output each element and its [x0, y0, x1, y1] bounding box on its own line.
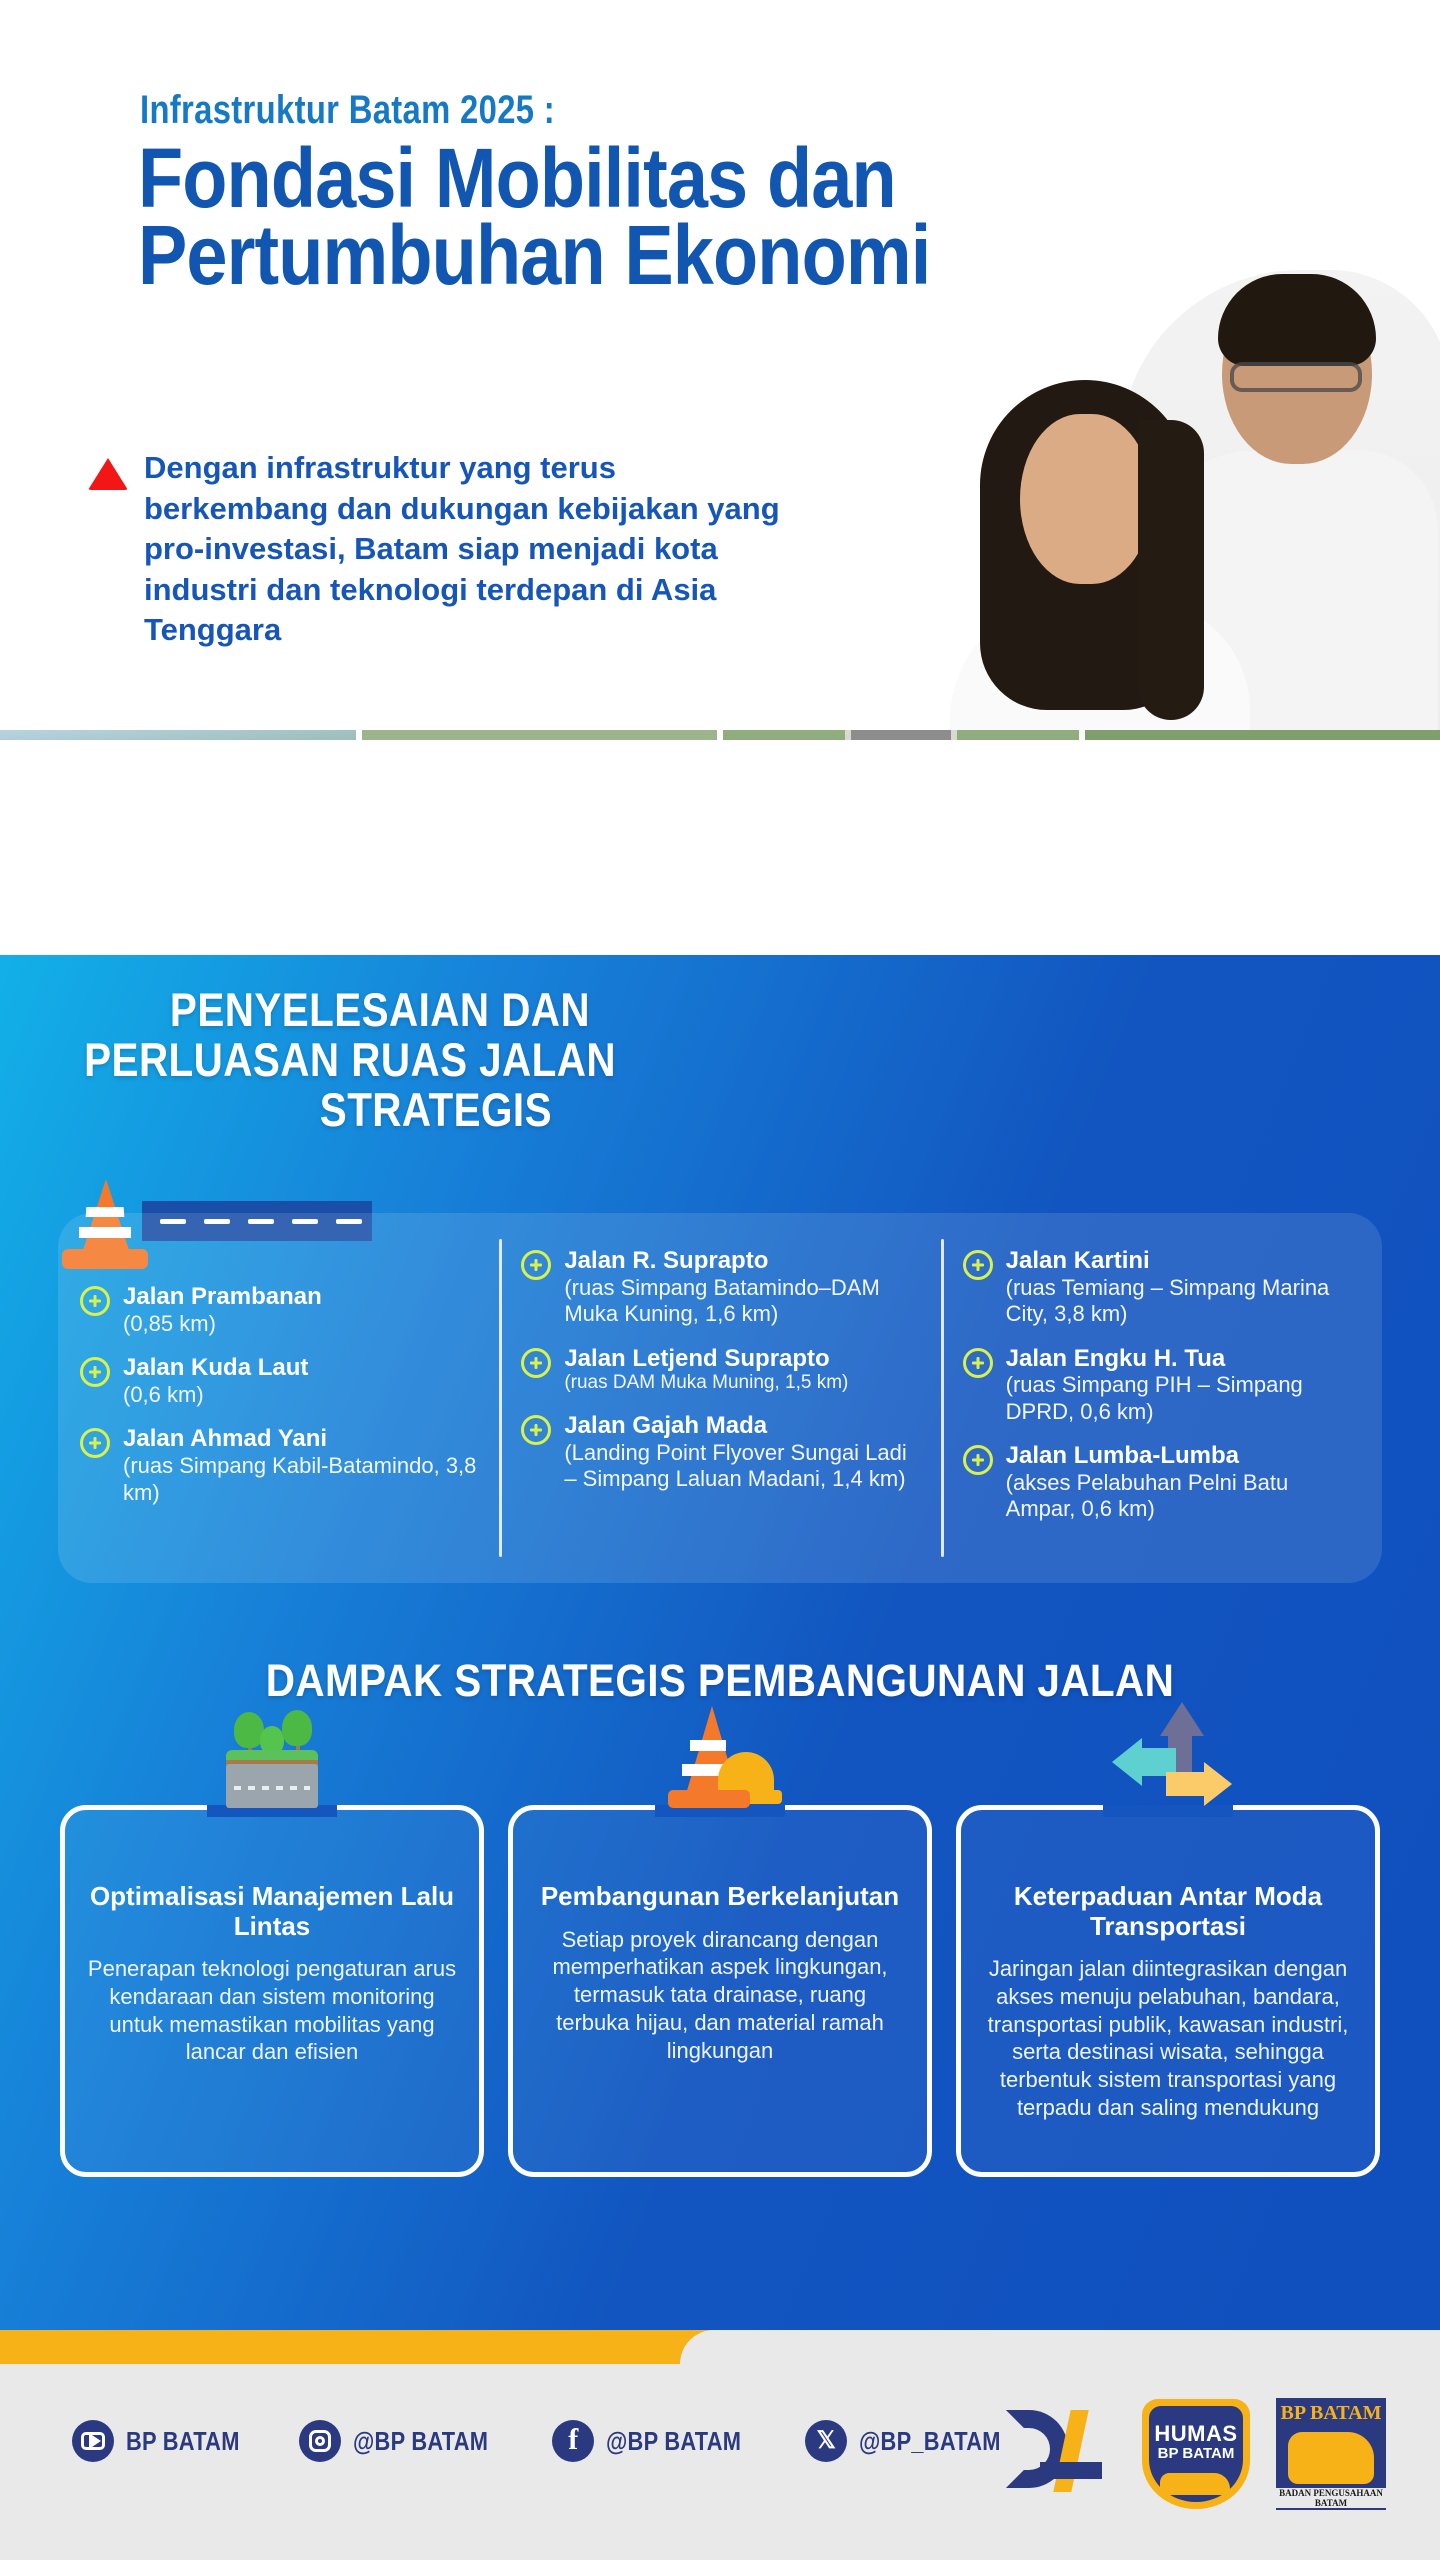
humas-bp-batam-logo: HUMAS BP BATAM	[1142, 2399, 1250, 2509]
road-name: Jalan Prambanan	[123, 1283, 322, 1311]
social-links: BP BATAM @BP BATAM f @BP BATAM 𝕏 @BP_BAT…	[72, 2420, 1028, 2462]
road-name: Jalan Kartini	[1006, 1247, 1362, 1275]
road-desc: (akses Pelabuhan Pelni Batu Ampar, 0,6 k…	[1006, 1470, 1362, 1523]
humas-logo-line2: BP BATAM	[1142, 2445, 1250, 2462]
social-facebook[interactable]: f @BP BATAM	[552, 2420, 767, 2462]
card-body: Jaringan jalan diintegrasikan dengan aks…	[983, 1955, 1353, 2121]
card-title: Keterpaduan Antar Moda Transportasi	[983, 1882, 1353, 1941]
card-title: Optimalisasi Manajemen Lalu Lintas	[87, 1882, 457, 1941]
bp-logo-title: BP BATAM	[1276, 2402, 1386, 2425]
photo-extra	[1085, 730, 1440, 740]
infographic-page: Infrastruktur Batam 2025 : Fondasi Mobil…	[0, 0, 1440, 2560]
social-youtube[interactable]: BP BATAM	[72, 2420, 261, 2462]
impact-card-3: Keterpaduan Antar Moda Transportasi Jari…	[956, 1805, 1380, 2177]
road-name: Jalan Engku H. Tua	[1006, 1345, 1362, 1373]
crocodile-emblem	[1288, 2432, 1374, 2484]
photo-flyover	[0, 730, 356, 740]
woman-figure	[950, 380, 1250, 740]
instagram-icon	[299, 2420, 341, 2462]
road-list-panel: Jalan Prambanan (0,85 km) Jalan Kuda Lau…	[58, 1213, 1382, 1583]
facebook-icon: f	[552, 2420, 594, 2462]
plus-icon	[963, 1348, 993, 1378]
humas-logo-line1: HUMAS	[1142, 2421, 1250, 2447]
list-item: Jalan Engku H. Tua (ruas Simpang PIH – S…	[963, 1345, 1362, 1426]
list-item: Jalan Gajah Mada (Landing Point Flyover …	[521, 1412, 920, 1493]
impact-section-title: DAMPAK STRATEGIS PEMBANGUNAN JALAN	[72, 1655, 1368, 1707]
roads-title-line1: PENYELESAIAN DAN	[53, 985, 707, 1035]
social-instagram[interactable]: @BP BATAM	[299, 2420, 514, 2462]
road-name: Jalan Lumba-Lumba	[1006, 1442, 1362, 1470]
social-label: BP BATAM	[126, 2426, 240, 2457]
footer-accent-bar	[0, 2330, 1440, 2364]
road-desc: (ruas DAM Muka Muning, 1,5 km)	[564, 1372, 848, 1395]
photo-roundabout	[362, 730, 718, 740]
impact-card-1: Optimalisasi Manajemen Lalu Lintas Pener…	[60, 1805, 484, 2177]
social-x[interactable]: 𝕏 @BP_BATAM	[805, 2420, 1028, 2462]
x-twitter-icon: 𝕏	[805, 2420, 847, 2462]
list-item: Jalan Lumba-Lumba (akses Pelabuhan Pelni…	[963, 1442, 1362, 1523]
hero-section: Infrastruktur Batam 2025 : Fondasi Mobil…	[0, 0, 1440, 740]
social-label: @BP BATAM	[353, 2426, 488, 2457]
list-item: Jalan Kartini (ruas Temiang – Simpang Ma…	[963, 1247, 1362, 1328]
woman-face	[1020, 414, 1152, 584]
plus-icon	[963, 1445, 993, 1475]
photo-strip	[0, 730, 1440, 740]
card-body: Penerapan teknologi pengaturan arus kend…	[87, 1955, 457, 2066]
impact-card-2: Pembangunan Berkelanjutan Setiap proyek …	[508, 1805, 932, 2177]
road-column-2: Jalan R. Suprapto (ruas Simpang Batamind…	[499, 1213, 940, 1583]
road-desc: (ruas Simpang Kabil-Batamindo, 3,8 km)	[123, 1453, 479, 1506]
footer: BP BATAM @BP BATAM f @BP BATAM 𝕏 @BP_BAT…	[0, 2364, 1440, 2560]
officials-photo	[920, 270, 1440, 740]
list-item: Jalan R. Suprapto (ruas Simpang Batamind…	[521, 1247, 920, 1328]
plus-icon	[80, 1357, 110, 1387]
man-hair	[1218, 274, 1376, 366]
road-column-1: Jalan Prambanan (0,85 km) Jalan Kuda Lau…	[58, 1213, 499, 1583]
list-item: Jalan Letjend Suprapto (ruas DAM Muka Mu…	[521, 1345, 920, 1396]
roads-title-line2: PERLUASAN RUAS JALAN	[53, 1035, 707, 1085]
social-label: @BP BATAM	[606, 2426, 741, 2457]
youtube-icon	[72, 2420, 114, 2462]
roads-title-line3: STRATEGIS	[53, 1085, 707, 1135]
road-column-3: Jalan Kartini (ruas Temiang – Simpang Ma…	[941, 1213, 1382, 1583]
road-name: Jalan Ahmad Yani	[123, 1425, 479, 1453]
plus-icon	[521, 1415, 551, 1445]
road-desc: (ruas Temiang – Simpang Marina City, 3,8…	[1006, 1275, 1362, 1328]
main-blue-section: PENYELESAIAN DAN PERLUASAN RUAS JALAN ST…	[0, 955, 1440, 2330]
multi-arrows-icon	[1108, 1702, 1228, 1812]
plus-icon	[521, 1348, 551, 1378]
road-desc: (ruas Simpang PIH – Simpang DPRD, 0,6 km…	[1006, 1372, 1362, 1425]
card-body: Setiap proyek dirancang dengan memperhat…	[535, 1926, 905, 2065]
road-name: Jalan Letjend Suprapto	[564, 1345, 848, 1373]
hero-lead-paragraph: Dengan infrastruktur yang terus berkemba…	[144, 448, 784, 651]
road-name: Jalan R. Suprapto	[564, 1247, 920, 1275]
bp-batam-logo: BP BATAM BADAN PENGUSAHAAN BATAM	[1276, 2398, 1386, 2510]
list-item: Jalan Kuda Laut (0,6 km)	[80, 1354, 479, 1408]
card-title: Pembangunan Berkelanjutan	[535, 1882, 905, 1912]
plus-icon	[80, 1428, 110, 1458]
woman-hair-front	[1138, 420, 1204, 720]
plus-icon	[80, 1286, 110, 1316]
hero-eyebrow: Infrastruktur Batam 2025 :	[140, 88, 555, 133]
red-triangle-icon	[88, 458, 128, 490]
impact-cards: Optimalisasi Manajemen Lalu Lintas Pener…	[60, 1805, 1380, 2177]
road-desc: (Landing Point Flyover Sungai Ladi – Sim…	[564, 1440, 920, 1493]
bp-logo-caption: BADAN PENGUSAHAAN BATAM	[1276, 2488, 1386, 2508]
road-name: Jalan Gajah Mada	[564, 1412, 920, 1440]
road-desc: (0,85 km)	[123, 1311, 322, 1337]
roads-section-title: PENYELESAIAN DAN PERLUASAN RUAS JALAN ST…	[53, 985, 707, 1134]
anniversary-54-logo	[1006, 2404, 1116, 2504]
list-item: Jalan Ahmad Yani (ruas Simpang Kabil-Bat…	[80, 1425, 479, 1506]
social-label: @BP_BATAM	[859, 2426, 1001, 2457]
list-item: Jalan Prambanan (0,85 km)	[80, 1283, 479, 1337]
plus-icon	[521, 1250, 551, 1280]
road-desc: (ruas Simpang Batamindo–DAM Muka Kuning,…	[564, 1275, 920, 1328]
cone-helmet-icon	[660, 1702, 780, 1812]
road-name: Jalan Kuda Laut	[123, 1354, 308, 1382]
trees-road-icon	[212, 1702, 332, 1812]
footer-logos: HUMAS BP BATAM BP BATAM BADAN PENGUSAHAA…	[1006, 2398, 1386, 2510]
crocodile-emblem	[1160, 2473, 1230, 2495]
photo-highway	[723, 730, 1079, 740]
plus-icon	[963, 1250, 993, 1280]
road-desc: (0,6 km)	[123, 1382, 308, 1408]
